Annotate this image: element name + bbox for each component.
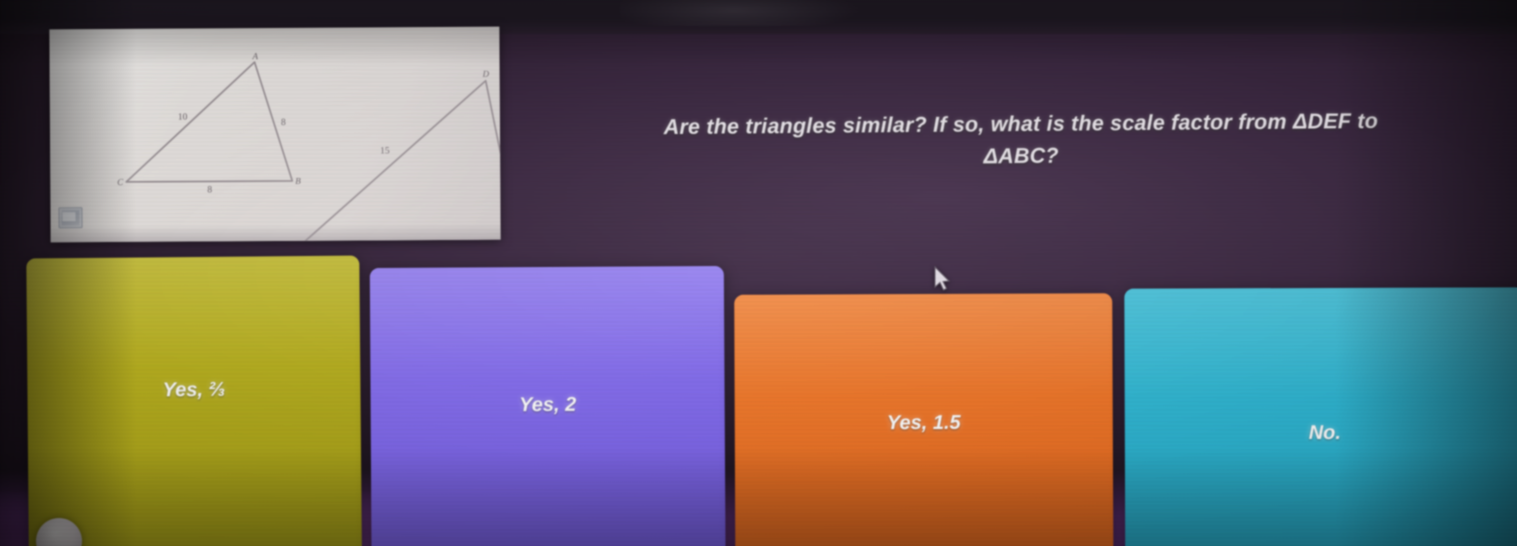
- answer-label-3: No.: [1309, 422, 1341, 445]
- answer-label-1: Yes, 2: [519, 394, 576, 417]
- answer-options-row: Yes, ⅔ Yes, 2 Yes, 1.5 No.: [0, 0, 1517, 546]
- answer-label-0: Yes, ⅔: [163, 379, 226, 403]
- answer-option-no[interactable]: No.: [1124, 287, 1517, 546]
- answer-option-yes-1-5[interactable]: Yes, 1.5: [734, 293, 1114, 546]
- answer-gloss-3: [1124, 287, 1517, 546]
- answer-option-yes-2[interactable]: Yes, 2: [370, 266, 726, 546]
- answer-option-yes-two-thirds[interactable]: Yes, ⅔: [26, 256, 362, 546]
- quiz-screen-photo: A C B 10 8 8 D F E 15 9 12 Are the trian…: [0, 0, 1517, 546]
- mouse-cursor: [933, 266, 951, 292]
- answer-label-2: Yes, 1.5: [887, 412, 961, 435]
